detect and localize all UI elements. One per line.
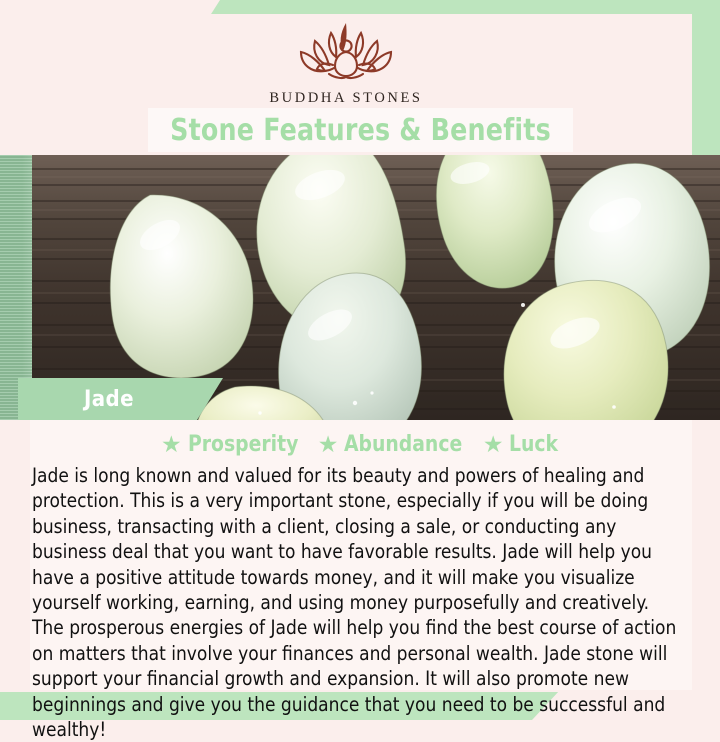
benefits-row: ★ Prosperity ★ Abundance ★ Luck [32, 432, 690, 457]
star-icon: ★ [161, 433, 182, 456]
stone-description: Jade is long known and valued for its be… [32, 463, 680, 742]
star-icon: ★ [483, 433, 504, 456]
brand-name: BUDDHA STONES [269, 90, 422, 107]
stone-name: Jade [84, 387, 134, 412]
stone-name-badge: Jade [18, 378, 223, 420]
content-panel: ★ Prosperity ★ Abundance ★ Luck Jade is … [30, 420, 692, 690]
star-icon: ★ [318, 433, 339, 456]
benefit-label: Abundance [344, 432, 462, 457]
benefit-item: ★ Abundance [318, 432, 469, 457]
benefit-item: ★ Luck [483, 432, 561, 457]
lotus-meditation-icon [281, 16, 411, 88]
benefit-item: ★ Prosperity [161, 432, 304, 457]
benefit-label: Luck [509, 432, 558, 457]
decor-band-right [692, 0, 720, 180]
title-banner: Stone Features & Benefits [148, 108, 573, 152]
benefit-label: Prosperity [188, 432, 298, 457]
brand-logo: BUDDHA STONES [0, 16, 692, 107]
page-title: Stone Features & Benefits [170, 113, 551, 148]
